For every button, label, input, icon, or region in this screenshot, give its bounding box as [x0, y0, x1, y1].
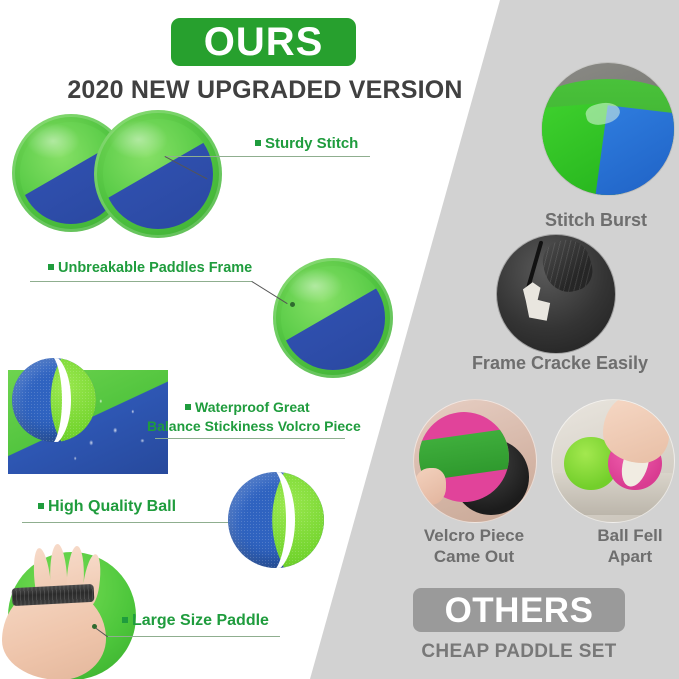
crack-hole: [523, 282, 551, 322]
feature-label-high-quality-ball: High Quality Ball: [38, 498, 176, 516]
feature-label-large-size-paddle: Large Size Paddle: [122, 612, 269, 630]
photo-stitch-burst: [541, 62, 675, 196]
feature-label-sturdy-stitch: Sturdy Stitch: [255, 135, 358, 152]
bullet-square-icon: [255, 140, 261, 146]
problem-label-frame-cracke-easily: Frame Cracke Easily: [440, 353, 679, 375]
problem-label-velcro-came-out-line2: Came Out: [434, 547, 514, 566]
paddle-gloss: [26, 123, 80, 158]
ball-on-paddle: [12, 358, 96, 442]
photo-ball-fell-apart: [551, 399, 675, 523]
feature-underline-waterproof-velcro: [155, 438, 345, 439]
ours-badge-label: OURS: [204, 22, 324, 62]
others-badge: OTHERS: [413, 588, 625, 632]
comparison-infographic: OURS 2020 NEW UPGRADED VERSION Sturdy St…: [0, 0, 679, 679]
problem-label-frame-cracke-easily-line1: Frame Cracke Easily: [472, 353, 648, 373]
feature-label-large-size-paddle-line1: Large Size Paddle: [132, 612, 269, 629]
feature-label-unbreakable-frame-line1: Unbreakable Paddles Frame: [58, 260, 252, 276]
photo-velcro-came-out: [413, 399, 537, 523]
paddle-single-frame: [273, 258, 393, 378]
feature-label-high-quality-ball-line1: High Quality Ball: [48, 498, 176, 515]
feature-label-waterproof-velcro-line1: Waterproof Great: [195, 399, 310, 415]
ball-texture: [228, 472, 324, 568]
feature-underline-large-size-paddle: [108, 636, 280, 637]
ours-subtitle: 2020 NEW UPGRADED VERSION: [0, 76, 530, 105]
paddle-gloss: [287, 268, 342, 304]
paddle-gloss: [109, 120, 168, 158]
thumb: [414, 468, 446, 505]
black-strap: [538, 234, 598, 297]
feature-underline-sturdy-stitch: [165, 156, 370, 157]
problem-label-ball-fell-apart-line2: Apart: [608, 547, 652, 566]
others-badge-label: OTHERS: [445, 593, 594, 628]
photo-frame-crack: [496, 234, 616, 354]
bullet-square-icon: [185, 404, 191, 410]
feature-label-waterproof-velcro: Waterproof Great Balance Stickiness Volc…: [147, 398, 361, 436]
problem-label-ball-fell-apart-line1: Ball Fell: [597, 526, 662, 545]
problem-label-velcro-came-out: Velcro Piece Came Out: [386, 526, 562, 567]
bullet-square-icon: [38, 503, 44, 509]
hand: [603, 399, 669, 463]
problem-label-ball-fell-apart: Ball Fell Apart: [560, 526, 679, 567]
ball-texture: [12, 358, 96, 442]
feature-label-waterproof-velcro-line2: Balance Stickiness Volcro Piece: [147, 417, 361, 436]
strap-texture: [538, 234, 598, 297]
bullet-square-icon: [122, 617, 128, 623]
problem-label-velcro-came-out-line1: Velcro Piece: [424, 526, 524, 545]
ball-high-quality: [228, 472, 324, 568]
problem-label-stitch-burst-line1: Stitch Burst: [545, 210, 647, 230]
feature-anchor-dot-large-size-paddle: [92, 624, 97, 629]
feature-underline-unbreakable-frame: [30, 281, 252, 282]
feature-anchor-dot-unbreakable-frame: [290, 302, 295, 307]
bullet-square-icon: [48, 264, 54, 270]
photo-hand-holding-paddle: [0, 542, 190, 679]
feature-label-unbreakable-frame: Unbreakable Paddles Frame: [48, 260, 252, 276]
feature-label-sturdy-stitch-line1: Sturdy Stitch: [265, 135, 358, 152]
paddle-green-blue-right: [94, 110, 222, 238]
ours-badge: OURS: [171, 18, 356, 66]
others-subtitle: CHEAP PADDLE SET: [390, 641, 648, 663]
feature-underline-high-quality-ball: [22, 522, 230, 523]
problem-label-stitch-burst: Stitch Burst: [512, 210, 679, 232]
